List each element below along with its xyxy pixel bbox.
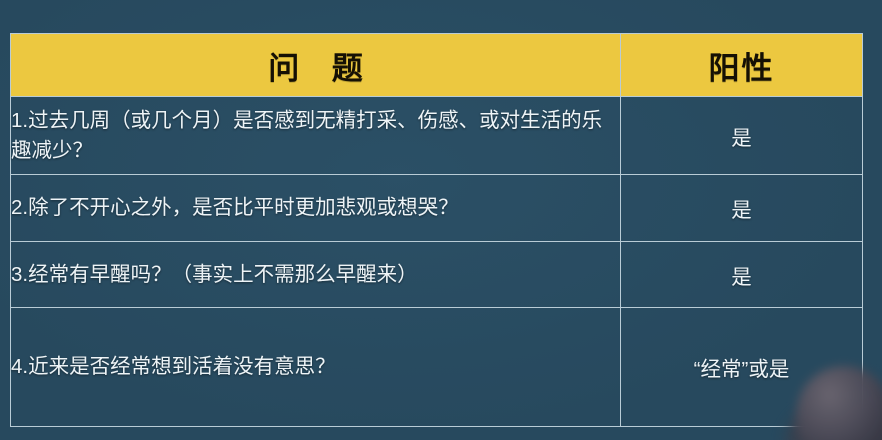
column-header-question: 问 题 xyxy=(11,34,621,97)
question-cell: 3.经常有早醒吗？（事实上不需那么早醒来） xyxy=(11,242,621,308)
question-cell: 1.过去几周（或几个月）是否感到无精打采、伤感、或对生活的乐趣减少？ xyxy=(11,97,621,175)
column-header-positive: 阳性 xyxy=(621,34,863,97)
table-row: 2.除了不开心之外，是否比平时更加悲观或想哭？ 是 xyxy=(11,175,863,242)
column-header-question-label: 问 题 xyxy=(256,51,375,86)
answer-cell: 是 xyxy=(621,242,863,308)
answer-cell: 是 xyxy=(621,175,863,242)
answer-cell: 是 xyxy=(621,97,863,175)
table-header-row: 问 题 阳性 xyxy=(11,34,863,97)
slide-canvas: 问 题 阳性 1.过去几周（或几个月）是否感到无精打采、伤感、或对生活的乐趣减少… xyxy=(0,0,882,440)
column-header-positive-label: 阳性 xyxy=(709,51,775,86)
table-row: 3.经常有早醒吗？（事实上不需那么早醒来） 是 xyxy=(11,242,863,308)
table-row: 1.过去几周（或几个月）是否感到无精打采、伤感、或对生活的乐趣减少？ 是 xyxy=(11,97,863,175)
table-row: 4.近来是否经常想到活着没有意思？ “经常”或是 xyxy=(11,308,863,427)
screening-question-table: 问 题 阳性 1.过去几周（或几个月）是否感到无精打采、伤感、或对生活的乐趣减少… xyxy=(10,33,863,427)
question-cell: 4.近来是否经常想到活着没有意思？ xyxy=(11,308,621,427)
answer-cell: “经常”或是 xyxy=(621,308,863,427)
question-table-container: 问 题 阳性 1.过去几周（或几个月）是否感到无精打采、伤感、或对生活的乐趣减少… xyxy=(10,33,862,425)
question-cell: 2.除了不开心之外，是否比平时更加悲观或想哭？ xyxy=(11,175,621,242)
